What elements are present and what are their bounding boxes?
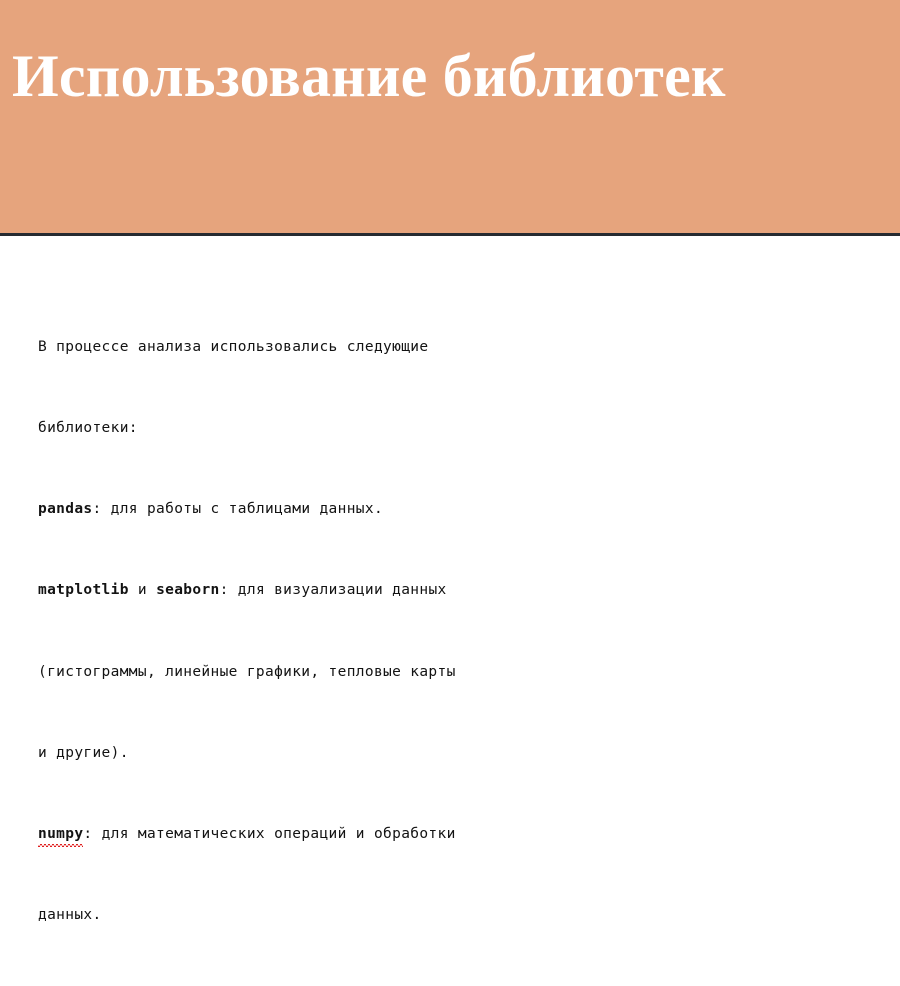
body-line-6: и другие). bbox=[38, 743, 558, 763]
body-line-2-text: библиотеки: bbox=[38, 420, 138, 436]
library-name-numpy: numpy bbox=[38, 824, 83, 844]
library-name-seaborn: seaborn bbox=[156, 582, 220, 598]
body-line-4-matplotlib-seaborn: matplotlib и seaborn: для визуализации д… bbox=[38, 580, 558, 600]
presentation-slide: Использование библиотек В процессе анали… bbox=[0, 0, 900, 526]
slide-title: Использование библиотек bbox=[12, 44, 726, 108]
body-line-7-description: : для математических операций и обработк… bbox=[83, 826, 455, 842]
body-line-5: (гистограммы, линейные графики, тепловые… bbox=[38, 662, 558, 682]
body-line-5-text: (гистограммы, линейные графики, тепловые… bbox=[38, 664, 456, 680]
body-line-4-description: : для визуализации данных bbox=[220, 582, 447, 598]
slide-header-band: Использование библиотек bbox=[0, 0, 900, 233]
body-line-3-description: : для работы с таблицами данных. bbox=[92, 501, 383, 517]
slide-body-text: В процессе анализа использовались следую… bbox=[38, 276, 558, 986]
slide-body-area: В процессе анализа использовались следую… bbox=[0, 236, 900, 526]
library-name-pandas: pandas bbox=[38, 501, 92, 517]
body-line-2: библиотеки: bbox=[38, 418, 558, 438]
body-line-8-text: данных. bbox=[38, 907, 102, 923]
body-line-6-text: и другие). bbox=[38, 745, 129, 761]
body-line-7-numpy: numpy: для математических операций и обр… bbox=[38, 824, 558, 844]
library-name-matplotlib: matplotlib bbox=[38, 582, 129, 598]
body-line-1-text: В процессе анализа использовались следую… bbox=[38, 339, 428, 355]
body-line-4-conjunction: и bbox=[129, 582, 156, 598]
body-line-8: данных. bbox=[38, 905, 558, 925]
body-line-3-pandas: pandas: для работы с таблицами данных. bbox=[38, 499, 558, 519]
body-line-1: В процессе анализа использовались следую… bbox=[38, 337, 558, 357]
